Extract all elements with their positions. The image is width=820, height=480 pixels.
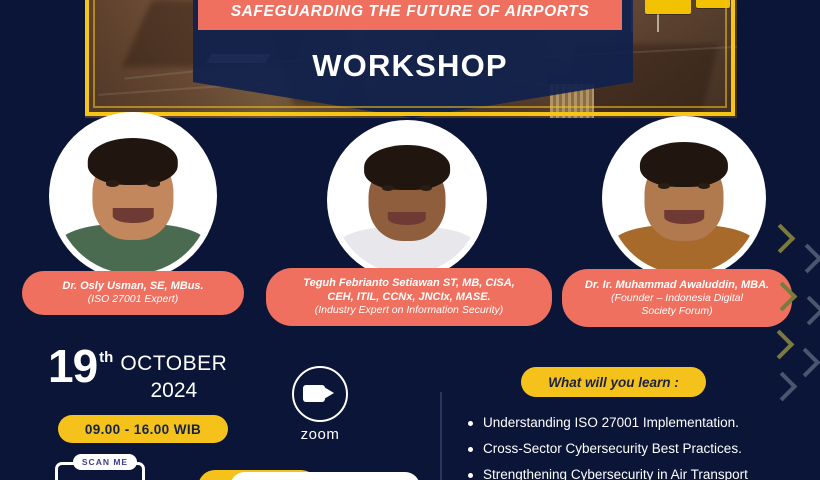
chevron-right-icon [768, 372, 798, 402]
speaker-3-name: Dr. Ir. Muhammad Awaluddin, MBA. [585, 278, 769, 292]
speaker-3-role: (Founder – Indonesia Digital [611, 292, 743, 305]
learn-item-text: Understanding ISO 27001 Implementation. [483, 415, 739, 432]
event-date: 19 th OCTOBER 2024 [48, 345, 227, 403]
chevron-right-icon [765, 330, 795, 360]
speaker-3-role-line2: Society Forum) [641, 305, 712, 318]
learn-list: Understanding ISO 27001 Implementation. … [468, 415, 798, 480]
chevron-right-icon [791, 348, 820, 378]
event-month: OCTOBER [120, 352, 227, 376]
speaker-1-namecard: Dr. Osly Usman, SE, MBus. (ISO 27001 Exp… [22, 271, 244, 315]
list-item: Strengthening Cybersecurity in Air Trans… [468, 467, 798, 480]
avatar [333, 126, 481, 274]
bullet-icon [468, 421, 473, 426]
vertical-divider [440, 392, 442, 480]
tagline-text: SAFEGUARDING THE FUTURE OF AIRPORTS [231, 3, 590, 21]
chevron-right-icon [766, 224, 796, 254]
tagline-banner: SAFEGUARDING THE FUTURE OF AIRPORTS [198, 0, 622, 30]
learn-item-text: Cross-Sector Cybersecurity Best Practice… [483, 441, 742, 458]
learn-item-text: Strengthening Cybersecurity in Air Trans… [483, 467, 748, 480]
speaker-3-namecard: Dr. Ir. Muhammad Awaluddin, MBA. (Founde… [562, 269, 792, 327]
bullet-icon [468, 447, 473, 452]
zoom-label: zoom [289, 426, 351, 443]
list-item: Understanding ISO 27001 Implementation. [468, 415, 798, 432]
avatar [608, 122, 760, 274]
event-day-suffix: th [99, 349, 113, 366]
white-accent-shape [230, 472, 420, 480]
chevron-right-icon [795, 296, 820, 326]
portrait-muhammad-awaluddin [608, 122, 760, 274]
learn-heading-badge: What will you learn : [521, 367, 706, 397]
speaker-2-role: (Industry Expert on Information Security… [315, 304, 504, 317]
event-day: 19 [48, 345, 97, 389]
speaker-1-name: Dr. Osly Usman, SE, MBus. [62, 279, 203, 293]
avatar [55, 118, 211, 274]
speaker-2-name-line2: CEH, ITIL, CCNx, JNCIx, MASE. [327, 290, 490, 304]
flyer-canvas: SAFEGUARDING THE FUTURE OF AIRPORTS WORK… [0, 0, 820, 480]
service-vehicle-icon [696, 0, 730, 8]
qr-code-frame[interactable]: SCAN ME [55, 462, 145, 480]
chevron-right-icon [793, 244, 820, 274]
list-item: Cross-Sector Cybersecurity Best Practice… [468, 441, 798, 458]
bullet-icon [468, 473, 473, 478]
service-vehicle-icon [645, 0, 691, 14]
page-title: WORKSHOP [198, 48, 622, 84]
portrait-teguh-febrianto [333, 126, 481, 274]
zoom-platform-logo: zoom [289, 366, 351, 443]
speaker-2-name: Teguh Febrianto Setiawan ST, MB, CISA, [303, 276, 514, 290]
event-year: 2024 [120, 379, 227, 403]
portrait-osly-usman [55, 118, 211, 274]
video-camera-icon [292, 366, 348, 422]
event-time-badge: 09.00 - 16.00 WIB [58, 415, 228, 443]
speaker-1-role: (ISO 27001 Expert) [88, 293, 178, 306]
speaker-2-namecard: Teguh Febrianto Setiawan ST, MB, CISA, C… [266, 268, 552, 326]
scan-me-label: SCAN ME [73, 454, 137, 470]
